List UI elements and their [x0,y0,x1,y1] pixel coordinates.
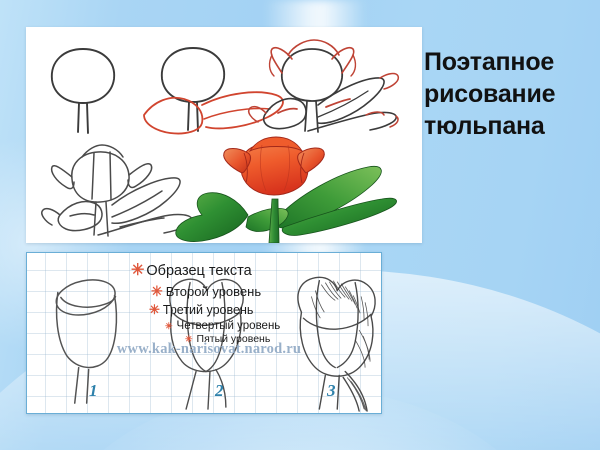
bullet-asterisk-icon: ✳ [165,321,173,332]
step-3-drawing [249,40,399,132]
title-line-1: Поэтапное [424,46,600,78]
list-item[interactable]: ✳ Третий уровень [149,302,381,318]
bullet-asterisk-icon: ✳ [131,260,144,280]
step-2-drawing [144,48,283,134]
bullet-asterisk-icon: ✳ [151,283,163,300]
step-4-drawing [42,145,192,236]
list-item[interactable]: ✳ Четвертый уровень [165,320,381,332]
tulip-steps-illustration [26,27,422,243]
step-number-1: 1 [89,381,98,401]
bullet-asterisk-icon: ✳ [149,302,160,318]
title-line-2: рисование [424,78,600,110]
step-5-drawing [176,137,397,243]
step-1-drawing [52,49,114,133]
title-line-3: тюльпана [424,110,600,142]
list-item-label: Второй уровень [166,284,261,299]
content-placeholder-panel[interactable]: ✳ Образец текста ✳ Второй уровень ✳ Трет… [26,252,382,414]
page-title: Поэтапное рисование тюльпана [424,46,600,142]
step-number-3: 3 [327,381,336,401]
watermark-url: www.kak-narisovat.narod.ru [0,341,419,358]
list-item-label: Образец текста [146,263,251,279]
list-item[interactable]: ✳ Образец текста [131,260,381,280]
list-item-label: Четвертый уровень [177,320,281,332]
tulip-steps-image [26,27,422,243]
list-item[interactable]: ✳ Второй уровень [151,283,381,300]
step-number-2: 2 [215,381,224,401]
list-item-label: Третий уровень [163,303,253,317]
